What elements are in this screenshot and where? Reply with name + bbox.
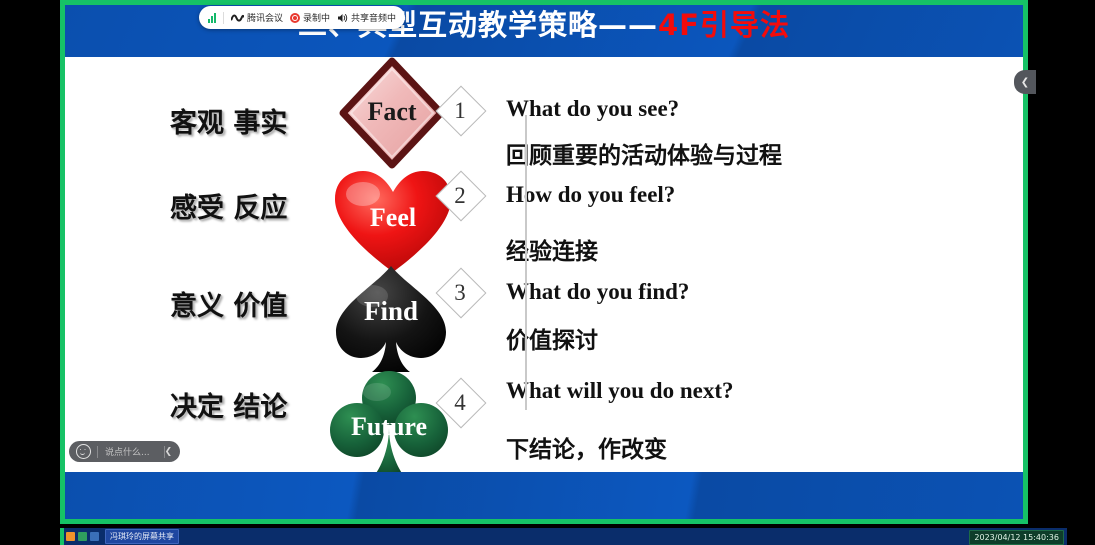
clock-text: 2023/04/12 15:40:36 <box>974 533 1059 542</box>
meeting-app-name: 腾讯会议 <box>247 11 283 24</box>
recording-item[interactable]: 录制中 <box>290 11 330 24</box>
screen-root: 二、典型互动教学策略——4F引导法 客观 事实 感受 反应 意义 价值 决定 结… <box>0 0 1095 545</box>
speaker-icon <box>337 13 348 23</box>
app-icon-orange[interactable] <box>66 532 75 541</box>
row-label-1: 客观 事实 <box>170 101 287 140</box>
suit-label-1: Fact <box>337 97 447 127</box>
suit-label-2: Feel <box>333 203 453 233</box>
question-en-2: How do you feel? <box>506 182 675 208</box>
taskbar-right-padding <box>1067 528 1095 545</box>
signal-strength-icon <box>208 13 216 23</box>
row-label-2: 感受 反应 <box>170 186 287 225</box>
meeting-app-item[interactable]: 腾讯会议 <box>231 11 283 24</box>
suit-label-4: Future <box>327 412 451 442</box>
question-cn-2: 经验连接 <box>506 232 598 266</box>
toolbar-divider <box>223 12 224 24</box>
presentation-slide: 二、典型互动教学策略——4F引导法 客观 事实 感受 反应 意义 价值 决定 结… <box>65 5 1023 519</box>
question-cn-3: 价值探讨 <box>506 321 598 355</box>
suit-spade-find: Find <box>330 262 452 378</box>
audio-share-label: 共享音频中 <box>351 11 396 24</box>
taskbar-tray: 冯琪玲的屏幕共享 <box>62 528 179 545</box>
row-label-3: 意义 价值 <box>170 284 287 323</box>
taskbar-window-title: 冯琪玲的屏幕共享 <box>110 531 174 542</box>
row-label-4: 决定 结论 <box>170 385 287 424</box>
question-en-1: What do you see? <box>506 96 679 122</box>
question-en-4: What will you do next? <box>506 378 733 404</box>
meeting-status-toolbar[interactable]: 腾讯会议 录制中 共享音频中 <box>199 6 405 29</box>
suit-label-3: Find <box>330 296 452 327</box>
windows-taskbar: 冯琪玲的屏幕共享 2023/04/12 15:40:36 <box>60 528 1095 545</box>
recording-dot-icon <box>290 13 300 23</box>
suit-club-future: Future <box>327 368 451 480</box>
question-cn-4: 下结论，作改变 <box>506 430 667 464</box>
question-en-3: What do you find? <box>506 279 689 305</box>
smiley-icon[interactable] <box>76 444 91 459</box>
app-icon-green[interactable] <box>78 532 87 541</box>
slide-bottom-bar <box>65 472 1023 519</box>
chevron-left-icon[interactable]: ❮ <box>165 446 181 457</box>
side-panel-collapse-handle[interactable]: ❮ <box>1014 70 1036 94</box>
slide-title-accent: 4F引导法 <box>658 8 790 42</box>
microphone-icon[interactable] <box>90 532 99 541</box>
chevron-left-icon: ❮ <box>1021 77 1029 88</box>
step-connector-line <box>525 115 527 410</box>
audio-share-item[interactable]: 共享音频中 <box>337 11 396 24</box>
question-cn-1: 回顾重要的活动体验与过程 <box>506 136 782 170</box>
recording-label: 录制中 <box>303 11 330 24</box>
chat-input-widget[interactable]: 说点什么... ❮ <box>69 441 180 462</box>
chat-input-placeholder[interactable]: 说点什么... <box>98 445 164 458</box>
suit-diamond-fact: Fact <box>337 57 447 169</box>
tencent-meeting-icon <box>231 13 244 22</box>
taskbar-window-button[interactable]: 冯琪玲的屏幕共享 <box>105 529 179 544</box>
taskbar-clock[interactable]: 2023/04/12 15:40:36 <box>969 530 1064 545</box>
